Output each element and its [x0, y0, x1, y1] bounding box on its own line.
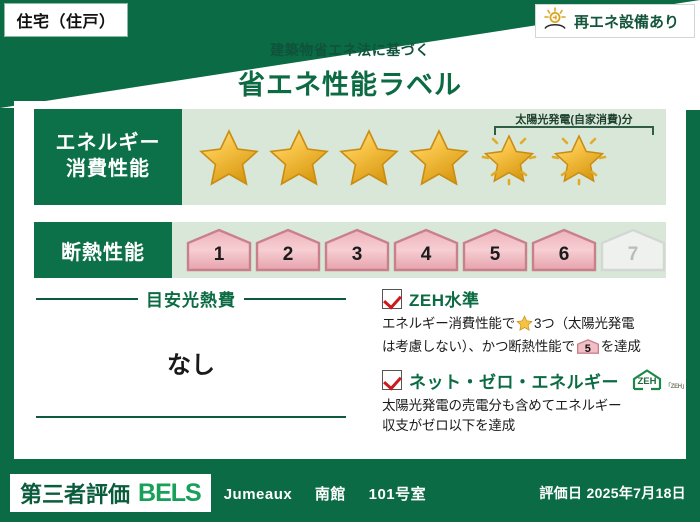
zeh-item-zeh-standard: ZEH水準 エネルギー消費性能で3つ（太陽光発電は考慮しない）、かつ断熱性能で5…	[382, 286, 668, 358]
energy-label-line2: 消費性能	[66, 157, 150, 183]
net-zero-desc-b: 収支がゼロ以下を達成	[382, 418, 515, 433]
room-number: 101号室	[369, 486, 427, 503]
cost-heading: 目安光熱費	[146, 286, 236, 311]
star-icon	[198, 127, 260, 187]
cost-rule-left	[36, 298, 138, 300]
insulation-level-number: 7	[600, 244, 666, 266]
title-subtitle: 建築物省エネ法に基づく	[0, 40, 700, 60]
star-icon	[268, 127, 330, 187]
insulation-level-number: 1	[186, 244, 252, 266]
building-name: Jumeaux	[224, 486, 293, 503]
net-zero-description: 太陽光発電の売電分も含めてエネルギー収支がゼロ以下を達成	[382, 396, 668, 437]
insulation-level-badge: 5	[462, 228, 528, 272]
insulation-level-number: 3	[324, 244, 390, 266]
zeh-standard-title: ZEH水準	[409, 286, 480, 311]
insulation-level-badge-inline: 5	[577, 338, 599, 355]
zeh-logo-subtext: 「ZEH」	[665, 381, 688, 392]
bels-en-text: BELS	[138, 479, 201, 508]
zeh-desc-star-count: 3つ（太陽光発電	[534, 316, 634, 331]
insulation-level-badge-inactive: 7	[600, 228, 666, 272]
check-icon	[382, 289, 402, 309]
renewable-chip-label: 再エネ設備あり	[574, 11, 679, 32]
building-wing: 南館	[315, 486, 346, 503]
insulation-performance-label: 断熱性能	[34, 222, 172, 278]
star-icon	[338, 127, 400, 187]
svg-text:ZEH: ZEH	[638, 376, 657, 387]
zeh-standard-heading: ZEH水準	[382, 286, 668, 311]
energy-star-rating	[182, 127, 610, 187]
star-sparkle-icon	[478, 127, 540, 187]
insulation-level-number: 4	[393, 244, 459, 266]
insulation-level-badge: 4	[393, 228, 459, 272]
insulation-level-badge: 6	[531, 228, 597, 272]
zeh-desc-part-c: を達成	[601, 339, 641, 354]
bels-badge: 第三者評価 BELS	[10, 474, 211, 512]
zeh-desc-level: 5	[577, 341, 599, 358]
insulation-level-scale: 1 2 3 4 5	[172, 228, 666, 272]
insulation-level-badge: 1	[186, 228, 252, 272]
net-zero-desc-a: 太陽光発電の売電分も含めてエネルギー	[382, 398, 621, 413]
energy-performance-body: 太陽光発電(自家消費)分	[182, 109, 666, 205]
title-main: 省エネ性能ラベル	[0, 63, 700, 102]
label-title: 建築物省エネ法に基づく 省エネ性能ラベル	[0, 40, 700, 102]
insulation-level-badge: 2	[255, 228, 321, 272]
insulation-level-badge: 3	[324, 228, 390, 272]
zeh-logo-icon: ZEH 「ZEH」	[630, 368, 688, 392]
solar-sun-icon	[542, 7, 568, 36]
zeh-criteria-section: ZEH水準 エネルギー消費性能で3つ（太陽光発電は考慮しない）、かつ断熱性能で5…	[382, 286, 668, 442]
evaluation-date-value: 2025年7月18日	[586, 485, 686, 501]
cost-heading-row: 目安光熱費	[36, 286, 346, 311]
star-icon-inline	[516, 315, 533, 337]
energy-label-line1: エネルギー	[56, 131, 161, 157]
insulation-level-number: 6	[531, 244, 597, 266]
label-footer: 第三者評価 BELS Jumeaux 南館 101号室 評価日 2025年7月1…	[0, 464, 700, 522]
cost-value: なし	[36, 345, 346, 380]
star-sparkle-icon	[548, 127, 610, 187]
evaluation-date: 評価日 2025年7月18日	[539, 483, 686, 503]
insulation-performance-body: 1 2 3 4 5	[172, 222, 666, 278]
cost-bottom-rule	[36, 416, 346, 418]
bels-energy-label: 住宅（住戸） 再エネ設備あり 建築物省エネ法に基づく 省エネ性能ラベル	[0, 0, 700, 522]
building-type-chip: 住宅（住戸）	[4, 3, 128, 37]
solar-annotation-text: 太陽光発電(自家消費)分	[490, 111, 658, 127]
cost-rule-right	[244, 298, 346, 300]
zeh-desc-part-a: エネルギー消費性能で	[382, 316, 515, 331]
building-info: Jumeaux 南館 101号室	[224, 483, 426, 504]
energy-performance-row: エネルギー 消費性能 太陽光発電(自家消費)分	[34, 109, 666, 205]
zeh-desc-part-b: は考慮しない）、かつ断熱性能で	[382, 339, 575, 354]
zeh-item-net-zero-energy: ネット・ゼロ・エネルギー ZEH 「ZEH」 太陽光発電の売電分も含めてエネルギ…	[382, 368, 668, 437]
energy-performance-label: エネルギー 消費性能	[34, 109, 182, 205]
insulation-level-number: 2	[255, 244, 321, 266]
insulation-level-number: 5	[462, 244, 528, 266]
evaluation-date-label: 評価日	[539, 485, 582, 501]
star-icon	[408, 127, 470, 187]
renewable-equipment-chip: 再エネ設備あり	[535, 4, 695, 38]
insulation-performance-row: 断熱性能 1 2 3 4	[34, 222, 666, 278]
estimated-utility-cost-section: 目安光熱費 なし	[36, 286, 346, 380]
check-icon	[382, 370, 402, 390]
net-zero-heading: ネット・ゼロ・エネルギー ZEH 「ZEH」	[382, 368, 668, 393]
zeh-standard-description: エネルギー消費性能で3つ（太陽光発電は考慮しない）、かつ断熱性能で5を達成	[382, 314, 668, 358]
net-zero-title: ネット・ゼロ・エネルギー	[409, 368, 619, 393]
bels-jp-text: 第三者評価	[20, 477, 130, 509]
